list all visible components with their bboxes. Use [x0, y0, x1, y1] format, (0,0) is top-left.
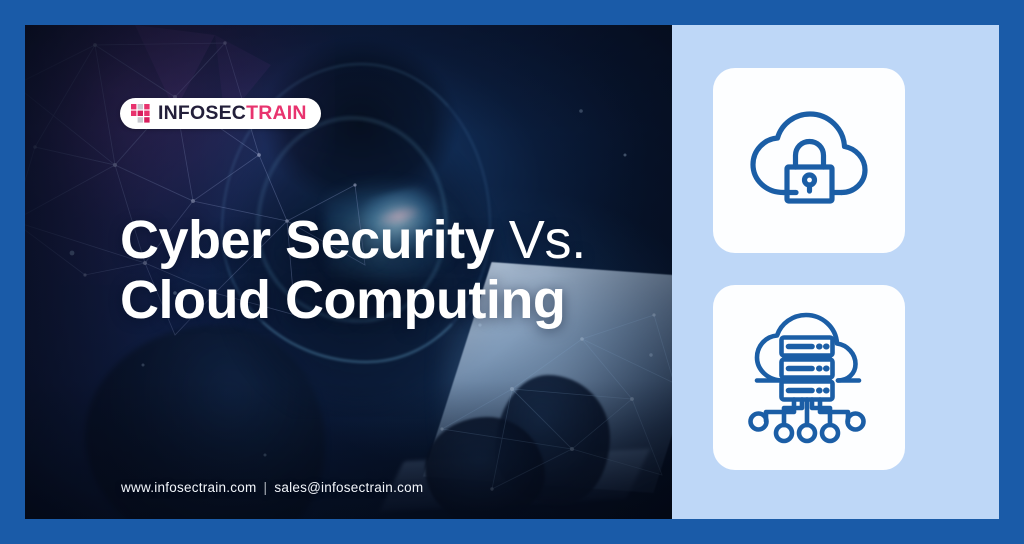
page-title: Cyber Security Vs. Cloud Computing — [120, 211, 650, 331]
infosectrain-logo[interactable]: INFOSECTRAIN — [120, 98, 321, 129]
cloud-server-network-icon — [736, 308, 882, 448]
contact-separator: | — [264, 480, 268, 495]
contact-bar: www.infosectrain.com|sales@infosectrain.… — [121, 480, 423, 495]
email-link[interactable]: sales@infosectrain.com — [274, 480, 423, 495]
infosectrain-squares-mark — [131, 104, 151, 123]
banner-frame: INFOSECTRAIN Cyber Security Vs. Cloud Co… — [0, 0, 1024, 544]
logo-text-primary: INFOSEC — [158, 102, 246, 124]
title-line-2: Cloud Computing — [120, 271, 650, 331]
hero-section: INFOSECTRAIN Cyber Security Vs. Cloud Co… — [25, 25, 672, 519]
website-link[interactable]: www.infosectrain.com — [121, 480, 257, 495]
logo-text-accent: TRAIN — [246, 102, 307, 124]
title-primary-text: Cyber Security — [120, 210, 494, 270]
logo-wordmark: INFOSECTRAIN — [158, 104, 307, 124]
title-versus-text: Vs. — [509, 210, 586, 270]
banner-inner: INFOSECTRAIN Cyber Security Vs. Cloud Co… — [25, 25, 999, 519]
title-line-1: Cyber Security Vs. — [120, 211, 650, 271]
icon-panel — [672, 25, 999, 519]
cloud-lock-icon — [739, 97, 879, 225]
cloud-security-card[interactable] — [713, 68, 905, 253]
cloud-computing-card[interactable] — [713, 285, 905, 470]
